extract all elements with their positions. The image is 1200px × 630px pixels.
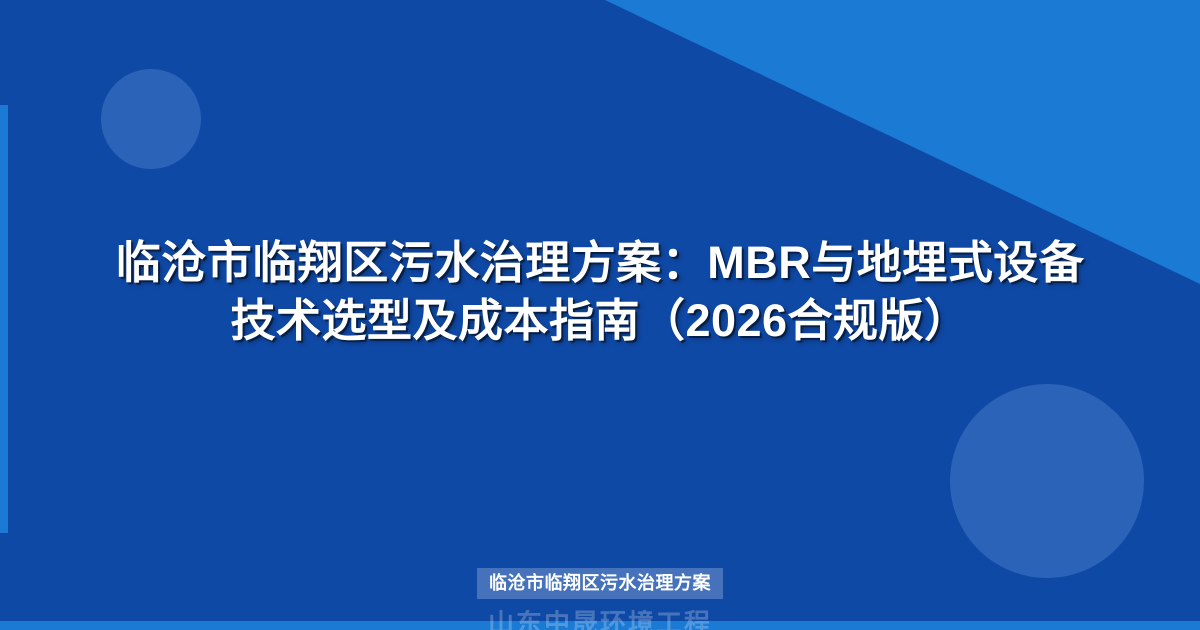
- company-watermark: 山东中晟环境工程: [488, 610, 712, 630]
- footer-block: 临沧市临翔区污水治理方案 山东中晟环境工程: [0, 568, 1200, 630]
- left-edge-accent-strip: [0, 105, 8, 533]
- source-badge: 临沧市临翔区污水治理方案: [477, 568, 723, 599]
- decorative-circle-top-left: [101, 69, 201, 169]
- cover-banner: 临沧市临翔区污水治理方案：MBR与地埋式设备 技术选型及成本指南（2026合规版…: [0, 0, 1200, 630]
- decorative-circle-bottom-right: [950, 384, 1144, 578]
